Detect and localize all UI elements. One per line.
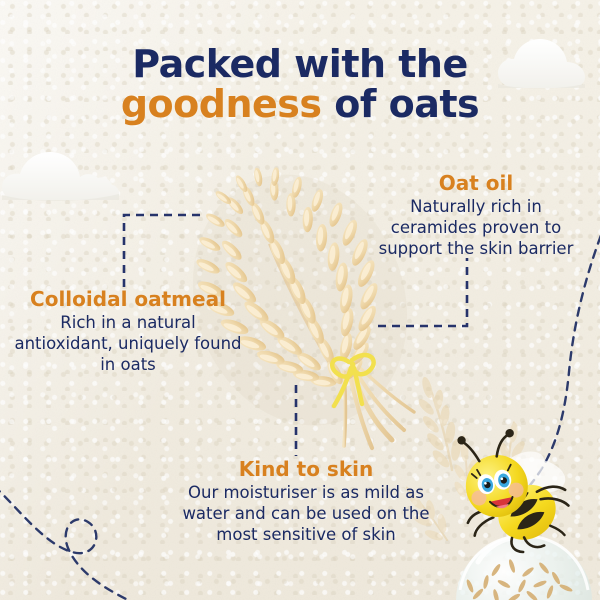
- callout-oat-oil-heading: Oat oil: [376, 172, 576, 194]
- callout-oat-oil: Oat oil Naturally rich in ceramides prov…: [376, 172, 576, 260]
- callout-kind-to-skin-heading: Kind to skin: [166, 458, 446, 480]
- callout-colloidal-oatmeal-heading: Colloidal oatmeal: [14, 288, 242, 310]
- glass-bowl-of-oats: [456, 536, 592, 600]
- callout-kind-to-skin: Kind to skin Our moisturiser is as mild …: [166, 458, 446, 546]
- callout-colloidal-oatmeal: Colloidal oatmeal Rich in a natural anti…: [14, 288, 242, 376]
- infographic-canvas: Packed with the goodness of oats Oat oil…: [0, 0, 600, 600]
- callout-oat-oil-body: Naturally rich in ceramides proven to su…: [376, 197, 576, 259]
- callout-colloidal-oatmeal-body: Rich in a natural antioxidant, uniquely …: [14, 313, 242, 375]
- headline-line-1: Packed with the: [0, 44, 600, 84]
- headline-line-2: goodness of oats: [0, 84, 600, 124]
- headline-word-of-oats: of oats: [334, 82, 479, 126]
- headline-block: Packed with the goodness of oats: [0, 44, 600, 125]
- headline-word-goodness: goodness: [121, 82, 322, 126]
- callout-kind-to-skin-body: Our moisturiser is as mild as water and …: [166, 483, 446, 545]
